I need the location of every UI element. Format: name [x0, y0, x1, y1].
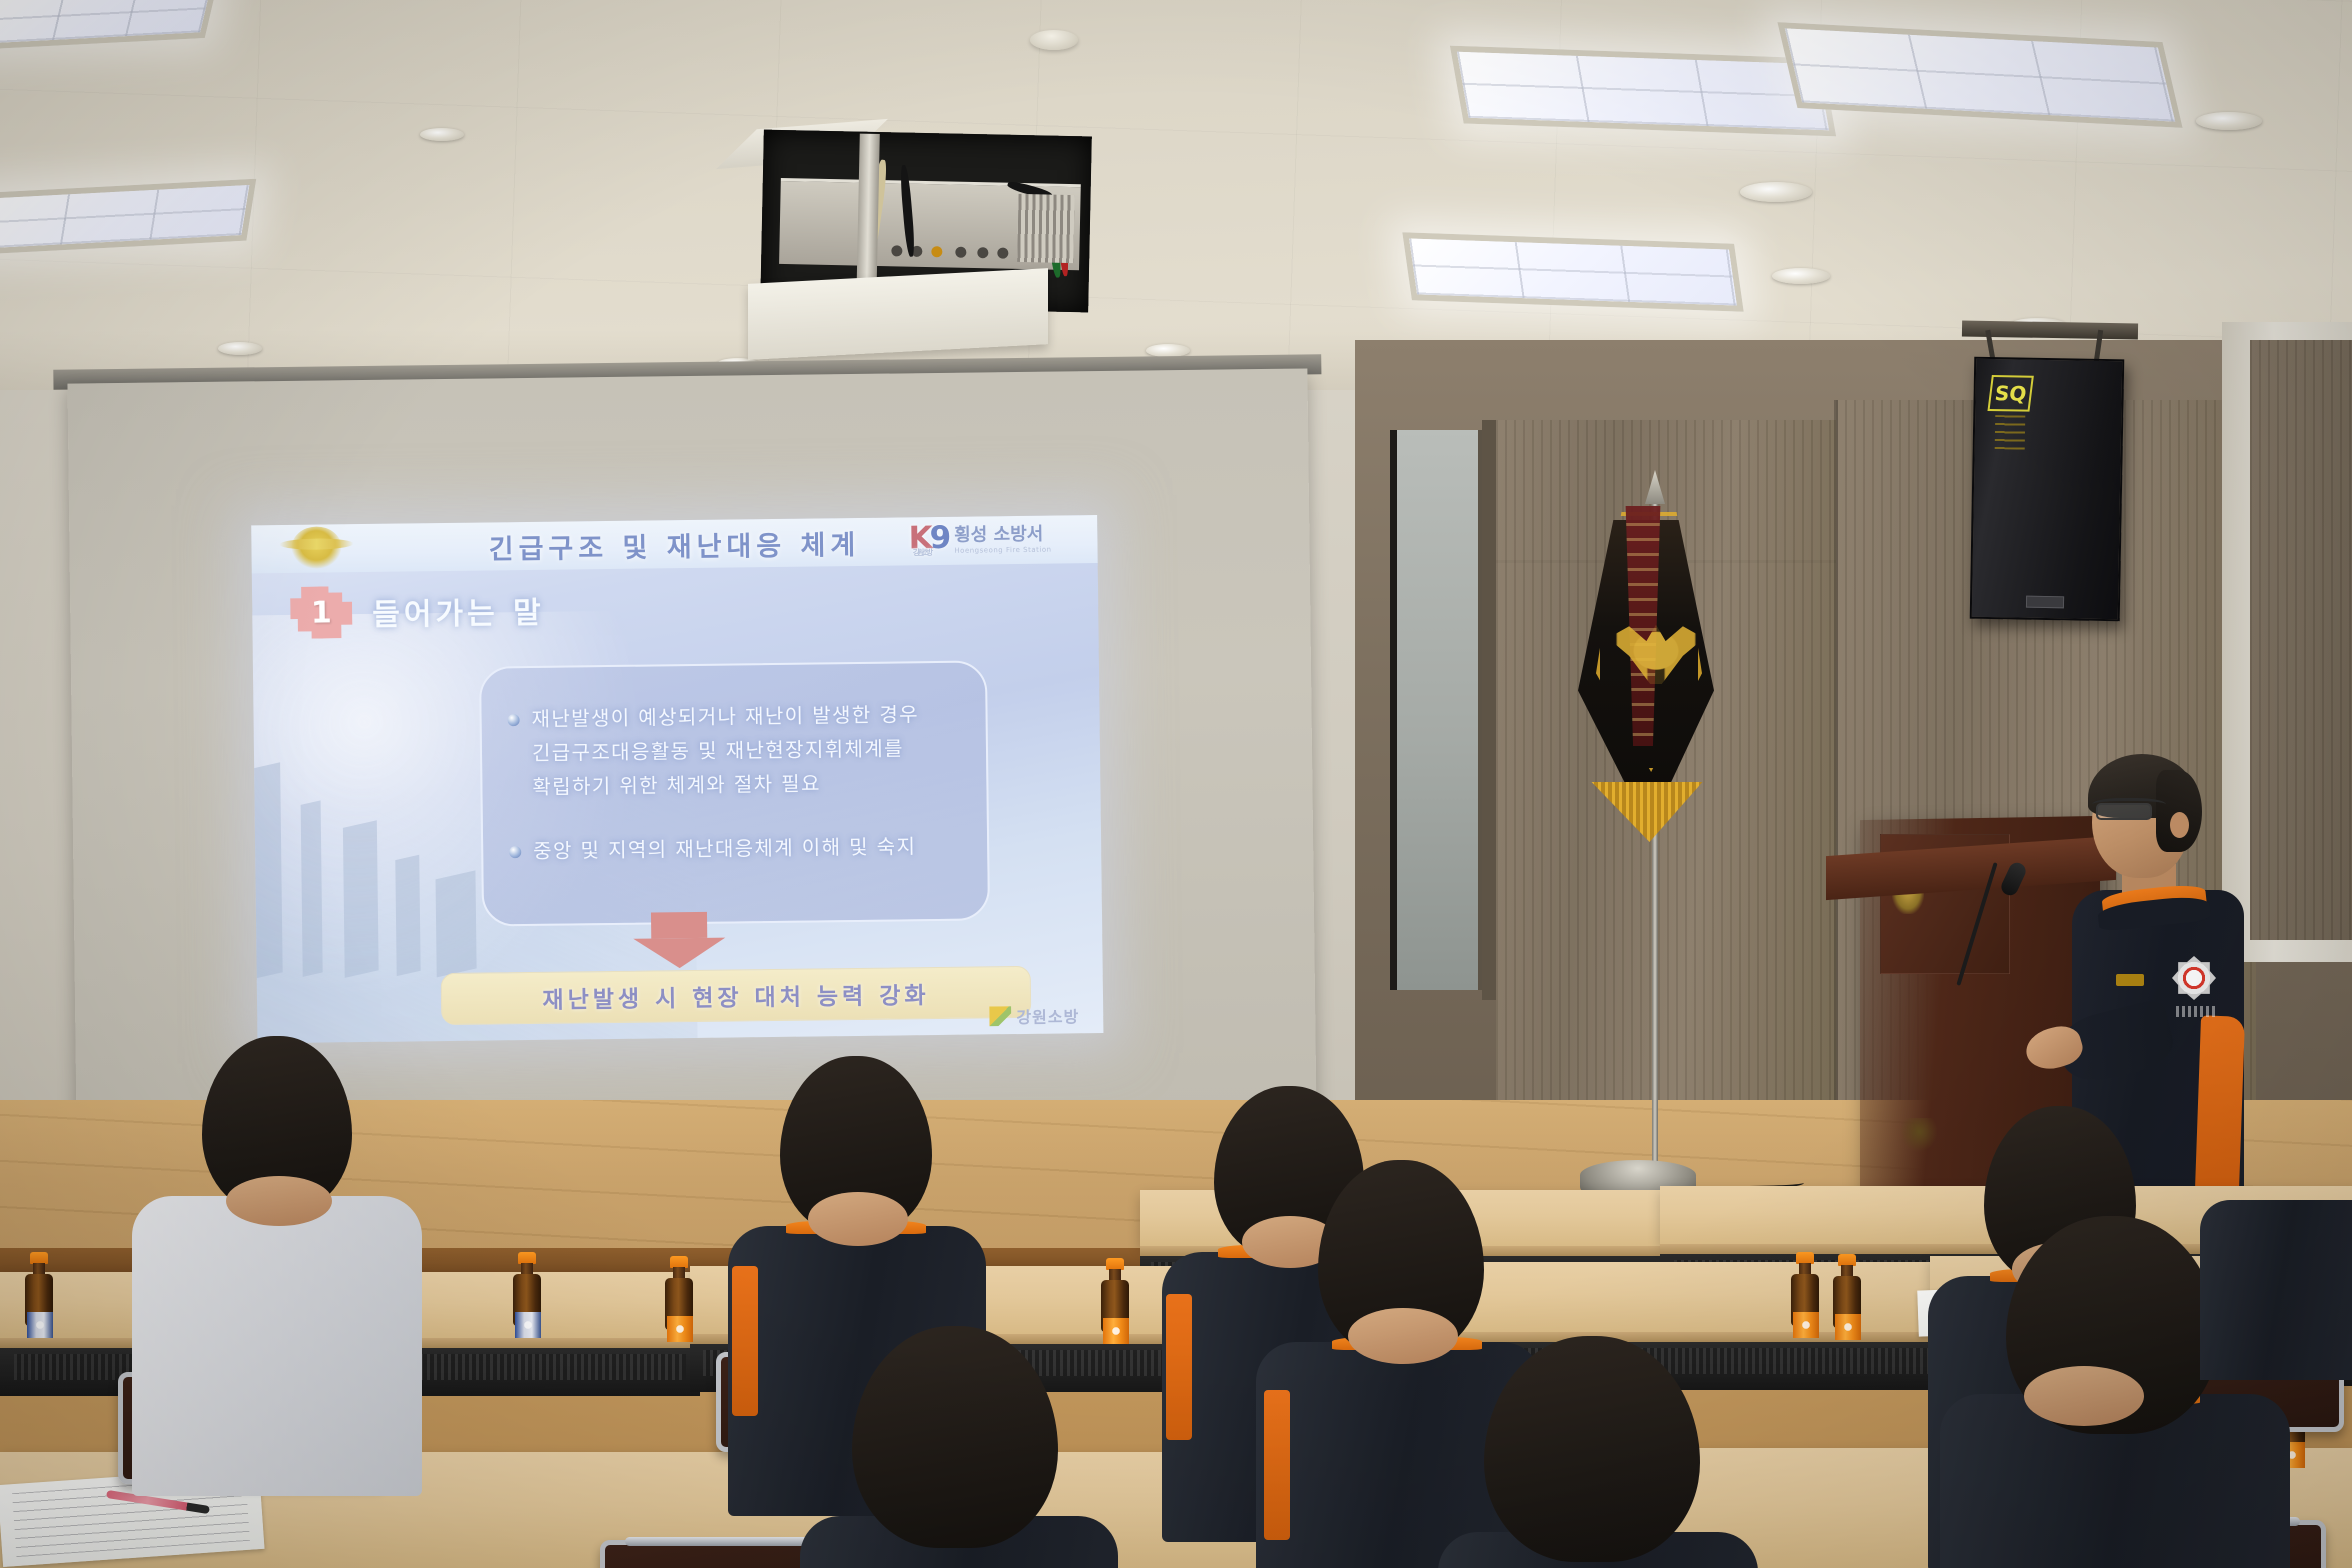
projection-screen: 긴급구조 및 재난대응 체계 K9 강원소방 횡성 소방서 Hoengseong…: [67, 368, 1316, 1135]
tonic-drink-bottle[interactable]: [1790, 1252, 1820, 1326]
attendee-head: [1484, 1336, 1700, 1562]
slide-header-bar: 긴급구조 및 재난대응 체계 K9 강원소방 횡성 소방서 Hoengseong…: [251, 515, 1098, 573]
downlight-icon: [2196, 112, 2262, 130]
station-name: 횡성 소방서: [954, 520, 1051, 547]
bullet-dot-icon: [508, 714, 520, 726]
attendee-head: [852, 1326, 1058, 1548]
projector-port-icon: [977, 247, 988, 258]
ceiling-light-panel-icon: [1450, 46, 1836, 137]
projector-cable: [1046, 215, 1062, 278]
presenter-shoulder-badge-icon: [2172, 956, 2216, 1000]
gangwon-mark-icon: [989, 1006, 1011, 1026]
tonic-drink-bottle[interactable]: [24, 1252, 54, 1326]
slide-bullet-item: 재난발생이 예상되거나 재난이 발생한 경우 긴급구조대응활동 및 재난현장지휘…: [507, 697, 968, 805]
downlight-icon: [218, 342, 262, 355]
bottle-body: [1833, 1276, 1861, 1328]
presentation-slide: 긴급구조 및 재난대응 체계 K9 강원소방 횡성 소방서 Hoengseong…: [251, 515, 1103, 1043]
tonic-drink-bottle[interactable]: [512, 1252, 542, 1326]
presenter-ear: [2170, 812, 2189, 838]
glasses-icon: [2092, 798, 2166, 814]
tonic-drink-bottle[interactable]: [1832, 1254, 1862, 1328]
attendee: [132, 1036, 432, 1456]
projector-body: [779, 178, 1081, 270]
slide-result-text: 재난발생 시 현장 대처 능력 강화: [542, 976, 930, 1015]
attendee: [2200, 1200, 2352, 1380]
bottle-body: [1791, 1274, 1819, 1326]
bullet-text-lines: 재난발생이 예상되거나 재난이 발생한 경우 긴급구조대응활동 및 재난현장지휘…: [531, 697, 920, 804]
station-logo: K9 강원소방 횡성 소방서 Hoengseong Fire Station: [908, 519, 1051, 557]
attendee-uniform-accent: [1166, 1294, 1192, 1440]
attendee-neck: [808, 1192, 908, 1246]
slide-footer-text: 강원소방: [1016, 1003, 1079, 1028]
bottle-body: [1101, 1280, 1129, 1332]
attendee: [800, 1326, 1130, 1568]
bottle-body: [665, 1278, 693, 1330]
tonic-drink-bottle[interactable]: [1100, 1258, 1130, 1332]
bullet-line: 재난발생이 예상되거나 재난이 발생한 경우: [531, 697, 919, 736]
ceiling-light-panel-icon: [1402, 232, 1743, 311]
slide-result-box: 재난발생 시 현장 대처 능력 강화: [441, 966, 1032, 1025]
k9-mark-icon: K9 강원소방: [908, 520, 948, 556]
projector-cable: [899, 165, 916, 257]
slide-footer-logo: 강원소방: [989, 1003, 1079, 1028]
attendee-uniform-accent: [732, 1266, 758, 1416]
smoke-detector-icon: [1030, 30, 1078, 50]
wall-speaker: SQ: [1970, 357, 2125, 622]
speaker-brand-label: SQ: [1987, 375, 2033, 412]
projector-port-icon: [997, 248, 1008, 259]
bottle-label: [1793, 1312, 1819, 1338]
section-title: 들어가는 말: [372, 588, 545, 634]
attendee-shirt: [132, 1196, 422, 1496]
slide-bullet-item: 중앙 및 지역의 재난대응체계 이해 및 숙지: [509, 829, 969, 869]
projector-cable: [1007, 180, 1054, 201]
bullet-line: 확립하기 위한 체계와 절차 필요: [532, 765, 920, 804]
bottle-body: [25, 1274, 53, 1326]
bullet-line: 긴급구조대응활동 및 재난현장지휘체계를: [532, 731, 920, 770]
speaker-brand-lines: [1995, 415, 2026, 450]
downlight-icon: [1772, 268, 1830, 284]
presenter-pocket-tab: [2116, 974, 2144, 986]
wall-seam: [1834, 400, 1838, 1160]
speaker-logo-icon: [2026, 596, 2064, 609]
bottle-label: [1835, 1314, 1861, 1340]
bottle-label: [27, 1312, 53, 1338]
downlight-icon: [1740, 182, 1812, 202]
bullet-line: 중앙 및 지역의 재난대응체계 이해 및 숙지: [533, 829, 917, 868]
bullet-dot-icon: [509, 846, 521, 858]
bullet-text-lines: 중앙 및 지역의 재난대응체계 이해 및 숙지: [533, 829, 917, 868]
frosted-glass-door[interactable]: [1390, 430, 1482, 990]
attendee: [1438, 1336, 1768, 1568]
bottle-body: [513, 1274, 541, 1326]
k9-sub-mark: 강원소방: [913, 547, 931, 558]
projector-port-icon: [891, 245, 902, 256]
projector-port-icon: [955, 247, 966, 258]
attendee-neck: [226, 1176, 332, 1226]
attendee-uniform-accent: [1264, 1390, 1290, 1540]
projector-port-icon: [931, 246, 942, 257]
presenter-badge-text: [2176, 1006, 2216, 1017]
conference-room-scene: SQ 긴급구조 및 재난대응 체계 K9 강원소방: [0, 0, 2352, 1568]
station-tagline: Hoengseong Fire Station: [954, 546, 1051, 555]
attendee-uniform: [2200, 1200, 2352, 1380]
slide-content-box: 재난발생이 예상되거나 재난이 발생한 경우 긴급구조대응활동 및 재난현장지휘…: [479, 660, 990, 926]
wall-panel: [2250, 340, 2352, 940]
door-frame: [1482, 420, 1496, 1000]
downlight-icon: [420, 128, 464, 141]
projector-lift-door: [748, 268, 1048, 360]
attendee-neck: [2024, 1366, 2144, 1426]
bottle-label: [667, 1316, 693, 1342]
bottle-label: [515, 1312, 541, 1338]
tonic-drink-bottle[interactable]: [664, 1256, 694, 1330]
